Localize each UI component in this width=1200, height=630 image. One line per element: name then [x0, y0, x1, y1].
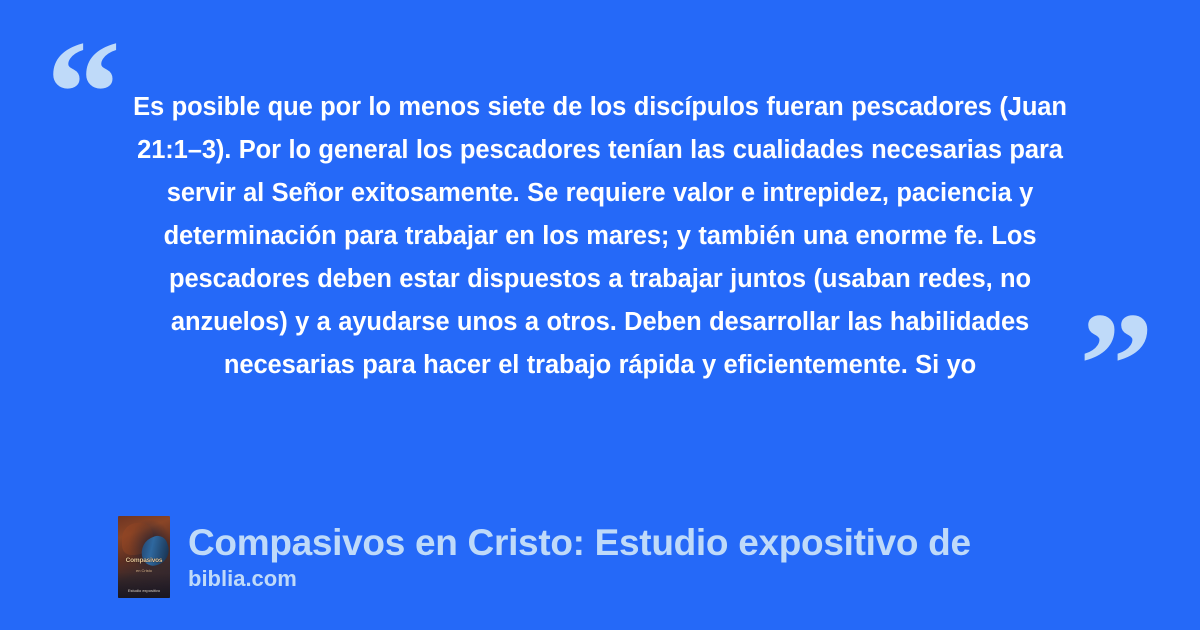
footer-text-block: Compasivos en Cristo: Estudio expositivo…	[188, 521, 971, 593]
footer: Compasivos en Cristo Estudio expositivo …	[118, 516, 971, 598]
quote-text: Es posible que por lo menos siete de los…	[110, 86, 1090, 387]
book-title[interactable]: Compasivos en Cristo: Estudio expositivo…	[188, 521, 971, 564]
book-cover-title: Compasivos	[120, 557, 168, 564]
quote-card: “ Es posible que por lo menos siete de l…	[0, 0, 1200, 630]
book-cover-subtitle: en Cristo	[120, 568, 168, 573]
book-cover-author: Estudio expositivo	[120, 588, 168, 593]
closing-quote-icon: ”	[1079, 290, 1154, 440]
book-cover-thumbnail[interactable]: Compasivos en Cristo Estudio expositivo	[118, 516, 170, 598]
source-link[interactable]: biblia.com	[188, 565, 971, 593]
book-cover-art-bottom	[118, 573, 170, 598]
